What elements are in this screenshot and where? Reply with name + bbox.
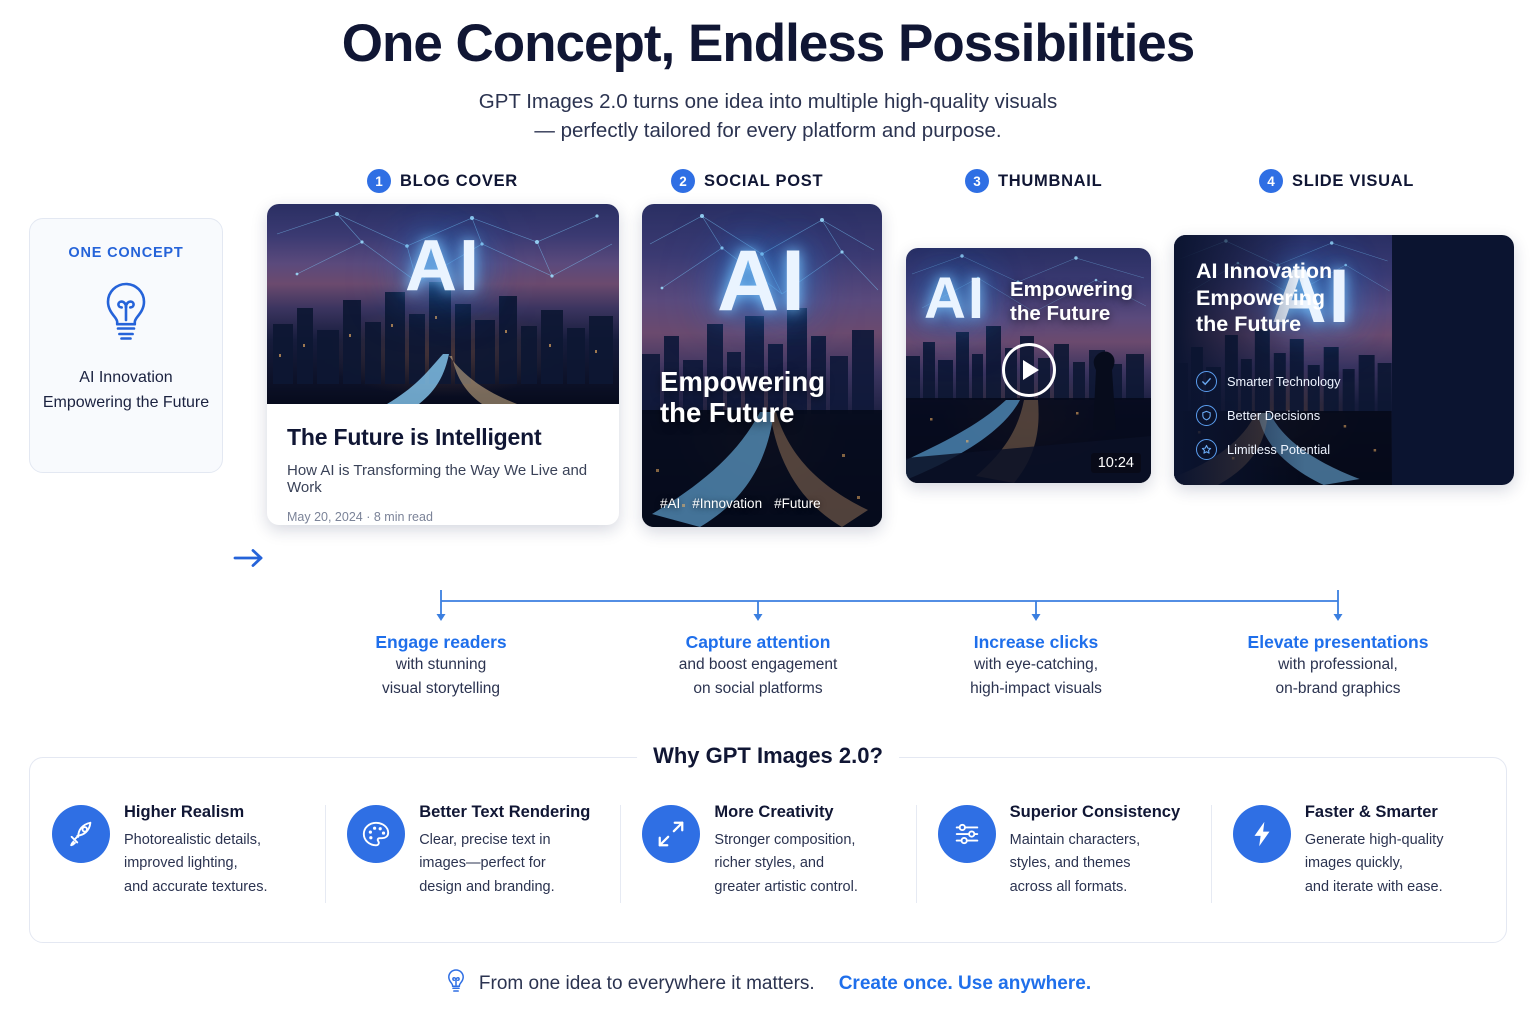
why-item-text: Faster & Smarter Generate high-quality i…: [1305, 803, 1444, 899]
hashtag: #Innovation: [692, 496, 762, 511]
play-icon[interactable]: [1002, 343, 1056, 397]
page-subtitle-line-2: — perfectly tailored for every platform …: [0, 116, 1536, 145]
slide-bullet-label: Smarter Technology: [1227, 374, 1341, 389]
why-item-line-1: Stronger composition,: [714, 829, 857, 852]
step-number-badge: 1: [367, 169, 391, 193]
why-item-better-text-rendering: Better Text Rendering Clear, precise tex…: [325, 803, 620, 899]
thumbnail-card[interactable]: AI Empowering the Future 10:24: [906, 248, 1151, 483]
why-item-body: Clear, precise text in images—perfect fo…: [419, 829, 590, 899]
slide-bullet-label: Better Decisions: [1227, 408, 1320, 423]
why-items-grid: Higher Realism Photorealistic details, i…: [30, 803, 1506, 899]
slide-bullet-item: Limitless Potential: [1196, 439, 1341, 460]
bolt-icon: [1233, 805, 1291, 863]
slide-bullet-item: Better Decisions: [1196, 405, 1341, 426]
artwork-ai-text: AI: [924, 270, 986, 328]
benefit-line-2: with professional,: [1208, 653, 1468, 677]
slide-visual-headline-line-2: Empowering: [1196, 285, 1332, 312]
why-item-heading: More Creativity: [714, 803, 857, 822]
footer-text: From one idea to everywhere it matters.: [479, 973, 815, 995]
benefit-item-2: Capture attention and boost engagement o…: [628, 632, 888, 701]
one-concept-text: AI Innovation Empowering the Future: [30, 365, 222, 416]
benefit-line-2: with eye-catching,: [906, 653, 1166, 677]
benefit-line-3: high-impact visuals: [906, 677, 1166, 701]
step-number-badge: 3: [965, 169, 989, 193]
why-item-line-3: and iterate with ease.: [1305, 876, 1444, 899]
lightbulb-icon: [445, 968, 467, 999]
flow-connector: [0, 588, 1536, 624]
hashtag: #AI: [660, 496, 680, 511]
step-header-4: 4 SLIDE VISUAL: [1259, 169, 1414, 193]
flow-section: ONE CONCEPT AI Innovation Empowering the…: [0, 171, 1536, 531]
why-item-line-2: improved lighting,: [124, 852, 267, 875]
why-item-text: More Creativity Stronger composition, ri…: [714, 803, 857, 899]
benefit-line-2: and boost engagement: [628, 653, 888, 677]
artwork-ai-text: AI: [642, 238, 882, 324]
slide-visual-headline: AI Innovation Empowering the Future: [1196, 258, 1332, 338]
benefit-line-2: with stunning: [311, 653, 571, 677]
why-item-heading: Higher Realism: [124, 803, 267, 822]
step-label: THUMBNAIL: [998, 172, 1102, 191]
slide-visual-headline-line-3: the Future: [1196, 311, 1332, 338]
step-label: BLOG COVER: [400, 172, 518, 191]
why-item-faster-smarter: Faster & Smarter Generate high-quality i…: [1211, 803, 1506, 899]
why-item-line-3: across all formats.: [1010, 876, 1181, 899]
why-item-line-3: and accurate textures.: [124, 876, 267, 899]
slide-bullet-item: Smarter Technology: [1196, 371, 1341, 392]
check-circle-icon: [1196, 371, 1217, 392]
thumbnail-headline-line-2: the Future: [1010, 302, 1133, 326]
why-item-superior-consistency: Superior Consistency Maintain characters…: [916, 803, 1211, 899]
why-item-line-1: Maintain characters,: [1010, 829, 1181, 852]
blog-cover-subtitle: How AI is Transforming the Way We Live a…: [287, 462, 599, 496]
why-item-body: Stronger composition, richer styles, and…: [714, 829, 857, 899]
ai-cityscape-artwork: AI: [267, 204, 619, 404]
social-post-headline-line-2: the Future: [660, 397, 825, 428]
why-item-line-1: Generate high-quality: [1305, 829, 1444, 852]
benefit-line-3: on-brand graphics: [1208, 677, 1468, 701]
play-triangle: [1023, 360, 1039, 380]
why-item-body: Maintain characters, styles, and themes …: [1010, 829, 1181, 899]
rocket-icon: [52, 805, 110, 863]
social-post-headline: Empowering the Future: [660, 366, 825, 428]
blog-cover-image: AI: [267, 204, 619, 404]
benefit-item-4: Elevate presentations with professional,…: [1208, 632, 1468, 701]
social-post-card[interactable]: AI Empowering the Future #AI #Innovation…: [642, 204, 882, 527]
why-item-heading: Better Text Rendering: [419, 803, 590, 822]
why-item-text: Higher Realism Photorealistic details, i…: [124, 803, 267, 899]
why-item-text: Better Text Rendering Clear, precise tex…: [419, 803, 590, 899]
slide-visual-bullets: Smarter Technology Better Decisions Limi…: [1196, 371, 1341, 473]
lightbulb-icon: [30, 279, 222, 343]
benefit-title: Elevate presentations: [1208, 632, 1468, 653]
why-item-body: Generate high-quality images quickly, an…: [1305, 829, 1444, 899]
artwork-ai-text: AI: [267, 230, 619, 302]
star-circle-icon: [1196, 439, 1217, 460]
why-item-higher-realism: Higher Realism Photorealistic details, i…: [30, 803, 325, 899]
blog-cover-title: The Future is Intelligent: [287, 424, 599, 451]
one-concept-text-line-2: Empowering the Future: [30, 390, 222, 415]
why-item-body: Photorealistic details, improved lightin…: [124, 829, 267, 899]
why-item-line-2: richer styles, and: [714, 852, 857, 875]
social-post-hashtags: #AI #Innovation #Future: [660, 496, 821, 511]
arrow-right-icon: [232, 546, 266, 575]
one-concept-label: ONE CONCEPT: [30, 245, 222, 261]
thumbnail-duration-badge: 10:24: [1091, 453, 1141, 473]
step-label: SLIDE VISUAL: [1292, 172, 1414, 191]
hashtag: #Future: [774, 496, 821, 511]
blog-cover-body: The Future is Intelligent How AI is Tran…: [267, 404, 619, 524]
page-subtitle: GPT Images 2.0 turns one idea into multi…: [0, 87, 1536, 145]
step-header-2: 2 SOCIAL POST: [671, 169, 823, 193]
page-footer: From one idea to everywhere it matters. …: [0, 968, 1536, 999]
page-title: One Concept, Endless Possibilities: [0, 14, 1536, 75]
benefit-item-1: Engage readers with stunning visual stor…: [311, 632, 571, 701]
why-item-line-2: styles, and themes: [1010, 852, 1181, 875]
why-item-line-3: greater artistic control.: [714, 876, 857, 899]
benefit-line-3: visual storytelling: [311, 677, 571, 701]
page-header: One Concept, Endless Possibilities GPT I…: [0, 0, 1536, 145]
why-item-heading: Superior Consistency: [1010, 803, 1181, 822]
why-panel: Why GPT Images 2.0? Higher Realism Photo…: [29, 757, 1507, 943]
page-subtitle-line-1: GPT Images 2.0 turns one idea into multi…: [0, 87, 1536, 116]
step-header-3: 3 THUMBNAIL: [965, 169, 1102, 193]
benefit-title: Capture attention: [628, 632, 888, 653]
why-panel-title: Why GPT Images 2.0?: [637, 743, 899, 769]
step-number-badge: 4: [1259, 169, 1283, 193]
why-item-line-1: Clear, precise text in: [419, 829, 590, 852]
blog-cover-card[interactable]: AI The Future is Intelligent How AI is T…: [267, 204, 619, 525]
step-label: SOCIAL POST: [704, 172, 823, 191]
palette-icon: [347, 805, 405, 863]
blog-cover-meta: May 20, 2024 · 8 min read: [287, 510, 599, 524]
thumbnail-headline-line-1: Empowering: [1010, 278, 1133, 302]
why-item-more-creativity: More Creativity Stronger composition, ri…: [620, 803, 915, 899]
slide-visual-card[interactable]: AI AI Innovation Empowering the Future S…: [1174, 235, 1514, 485]
why-item-line-2: images quickly,: [1305, 852, 1444, 875]
expand-icon: [642, 805, 700, 863]
why-item-heading: Faster & Smarter: [1305, 803, 1444, 822]
social-post-headline-line-1: Empowering: [660, 366, 825, 397]
shield-circle-icon: [1196, 405, 1217, 426]
one-concept-card: ONE CONCEPT AI Innovation Empowering the…: [29, 218, 223, 473]
one-concept-text-line-1: AI Innovation: [30, 365, 222, 390]
why-item-text: Superior Consistency Maintain characters…: [1010, 803, 1181, 899]
benefit-title: Engage readers: [311, 632, 571, 653]
step-header-1: 1 BLOG COVER: [367, 169, 518, 193]
benefit-item-3: Increase clicks with eye-catching, high-…: [906, 632, 1166, 701]
benefit-line-3: on social platforms: [628, 677, 888, 701]
benefit-title: Increase clicks: [906, 632, 1166, 653]
footer-cta: Create once. Use anywhere.: [839, 973, 1091, 995]
why-item-line-3: design and branding.: [419, 876, 590, 899]
why-item-line-2: images—perfect for: [419, 852, 590, 875]
sliders-icon: [938, 805, 996, 863]
thumbnail-headline: Empowering the Future: [1010, 278, 1133, 326]
slide-visual-headline-line-1: AI Innovation: [1196, 258, 1332, 285]
why-item-line-1: Photorealistic details,: [124, 829, 267, 852]
step-number-badge: 2: [671, 169, 695, 193]
slide-bullet-label: Limitless Potential: [1227, 442, 1330, 457]
